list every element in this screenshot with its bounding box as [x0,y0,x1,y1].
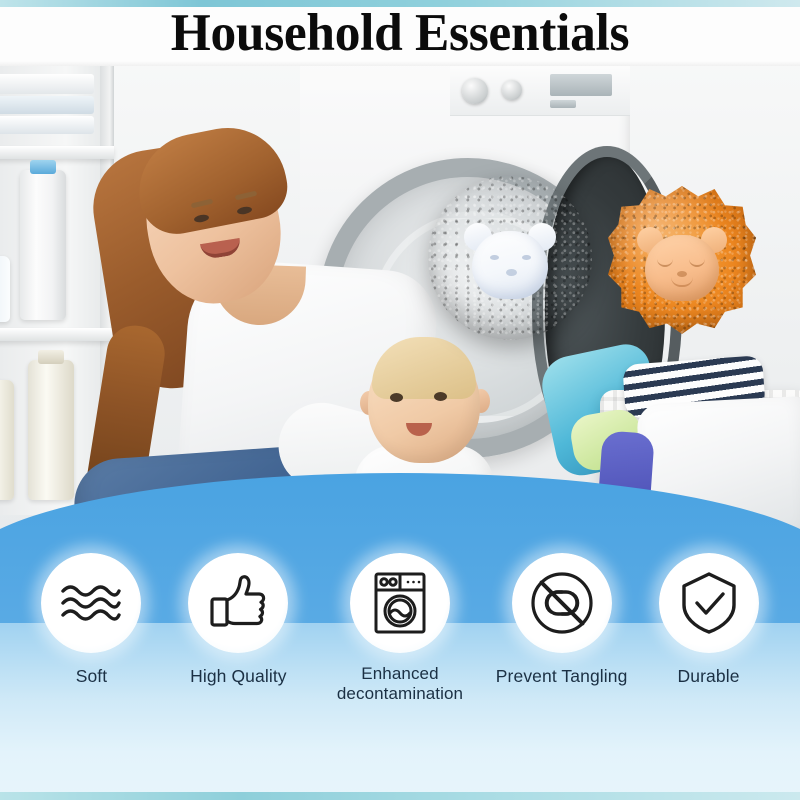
washer-button [550,100,576,108]
detergent-bottle [0,256,10,322]
shield-check-icon [680,571,738,635]
bear-muzzle [472,231,548,299]
thumbs-up-icon [208,573,268,633]
washing-machine-icon [372,571,428,635]
baby-hair [372,337,476,399]
feature-list: Soft High Quality [0,553,800,733]
baby-eye [434,392,447,401]
top-edge-strip [0,0,800,7]
folded-towel [0,74,94,94]
baby-eye [390,393,403,402]
bear-eye-right [522,255,531,260]
lion-muzzle [645,235,719,301]
bear-nose [506,269,517,276]
bear-eye-left [490,255,499,260]
folded-towel [0,116,94,134]
title-band: Household Essentials [0,0,800,66]
feature-label: Durable [678,666,740,686]
features-section: Soft High Quality [0,535,800,800]
washer-display [550,74,612,96]
detergent-bottle [0,380,14,500]
bottle-cap [30,160,56,174]
feature-icon-circle [41,553,141,653]
feature-durable[interactable]: Durable [635,553,782,686]
folded-towel [0,96,94,114]
feature-label: High Quality [190,666,287,686]
feature-soft[interactable]: Soft [18,553,165,686]
orange-lion-lint-ball [608,186,756,334]
detergent-bottle [28,360,74,500]
bear-face [464,221,556,301]
waves-icon [60,581,122,625]
washer-control-panel [450,64,630,116]
detergent-bottle [20,170,66,320]
bottle-cap [38,350,64,364]
washer-knob [462,78,488,104]
feature-prevent-tangling[interactable]: Prevent Tangling [488,553,635,686]
no-tangle-icon [529,570,595,636]
feature-high-quality[interactable]: High Quality [165,553,312,686]
washer-knob [502,80,522,100]
feature-enhanced-decontamination[interactable]: Enhanced decontamination [312,553,488,703]
feature-icon-circle [659,553,759,653]
page-title: Household Essentials [12,0,788,66]
bottom-edge-strip [0,792,800,800]
feature-icon-circle [350,553,450,653]
lion-face [635,227,729,305]
feature-label: Prevent Tangling [496,666,628,686]
feature-label-line1: Enhanced [361,664,438,683]
feature-label: Soft [76,666,108,686]
product-marketing-image: Household Essentials Soft [0,0,800,800]
feature-icon-circle [188,553,288,653]
feature-label-line2: decontamination [337,684,463,703]
feature-label: Enhanced decontamination [337,664,463,703]
feature-icon-circle [512,553,612,653]
blue-bear-lint-ball [428,176,592,340]
